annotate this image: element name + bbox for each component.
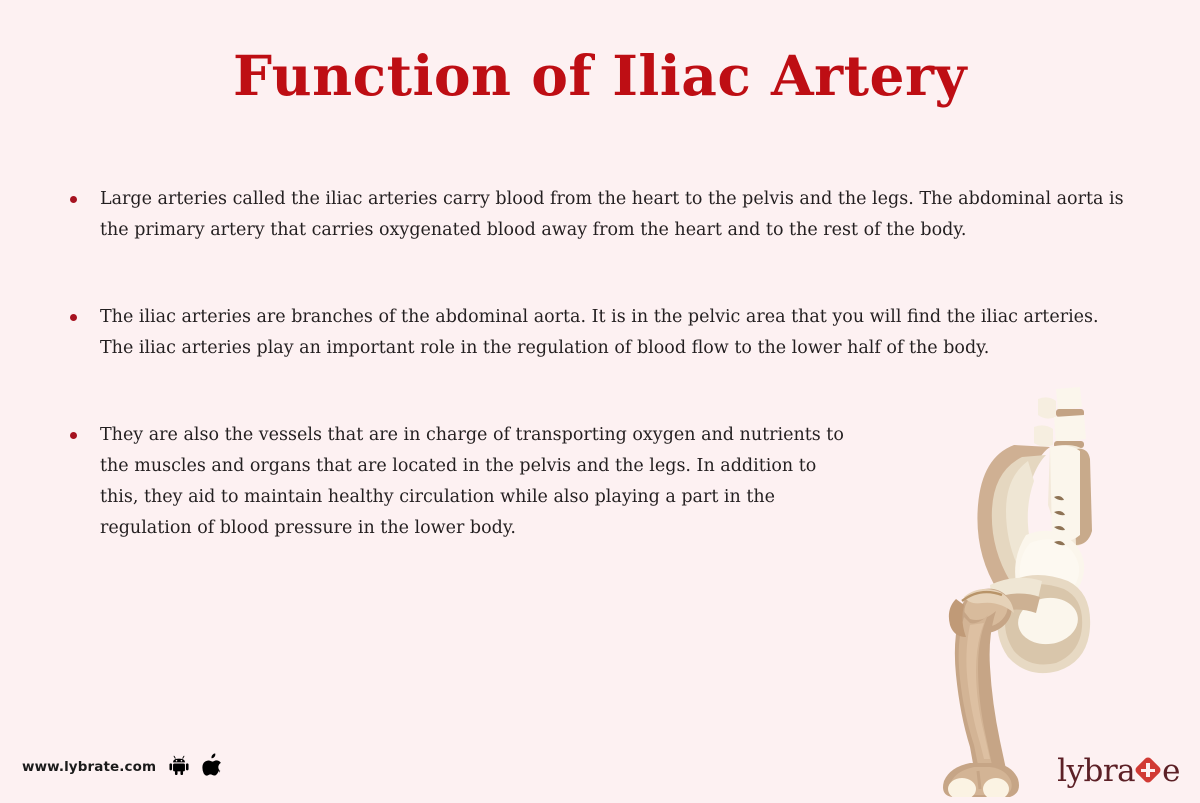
bullet-text: The iliac arteries are branches of the a… bbox=[100, 302, 1134, 364]
pelvis-femur-bone-illustration bbox=[930, 385, 1100, 797]
logo-text-before: lybra bbox=[1057, 756, 1135, 787]
android-icon[interactable] bbox=[168, 754, 190, 781]
femoral-condyles-shape bbox=[943, 763, 1019, 797]
apple-icon[interactable] bbox=[202, 753, 222, 781]
lumbar-vertebrae-shape bbox=[1034, 387, 1086, 448]
bullet-text: They are also the vessels that are in ch… bbox=[100, 420, 860, 544]
logo-text-after: e bbox=[1162, 756, 1180, 787]
lybrate-logo[interactable]: lybra e bbox=[1057, 756, 1180, 787]
poster-page: Function of Iliac Artery Large arteries … bbox=[0, 0, 1200, 803]
diamond-plus-icon bbox=[1136, 758, 1161, 783]
sacrum-shape bbox=[1048, 445, 1092, 547]
bullet-marker-icon bbox=[70, 196, 77, 203]
list-item: Large arteries called the iliac arteries… bbox=[64, 184, 1134, 246]
list-item: The iliac arteries are branches of the a… bbox=[64, 302, 1134, 364]
bullet-marker-icon bbox=[70, 314, 77, 321]
footer-left: www.lybrate.com bbox=[22, 753, 222, 781]
page-title: Function of Iliac Artery bbox=[0, 46, 1200, 107]
bullet-marker-icon bbox=[70, 432, 77, 439]
site-url[interactable]: www.lybrate.com bbox=[22, 759, 156, 775]
bullet-text: Large arteries called the iliac arteries… bbox=[100, 184, 1134, 246]
